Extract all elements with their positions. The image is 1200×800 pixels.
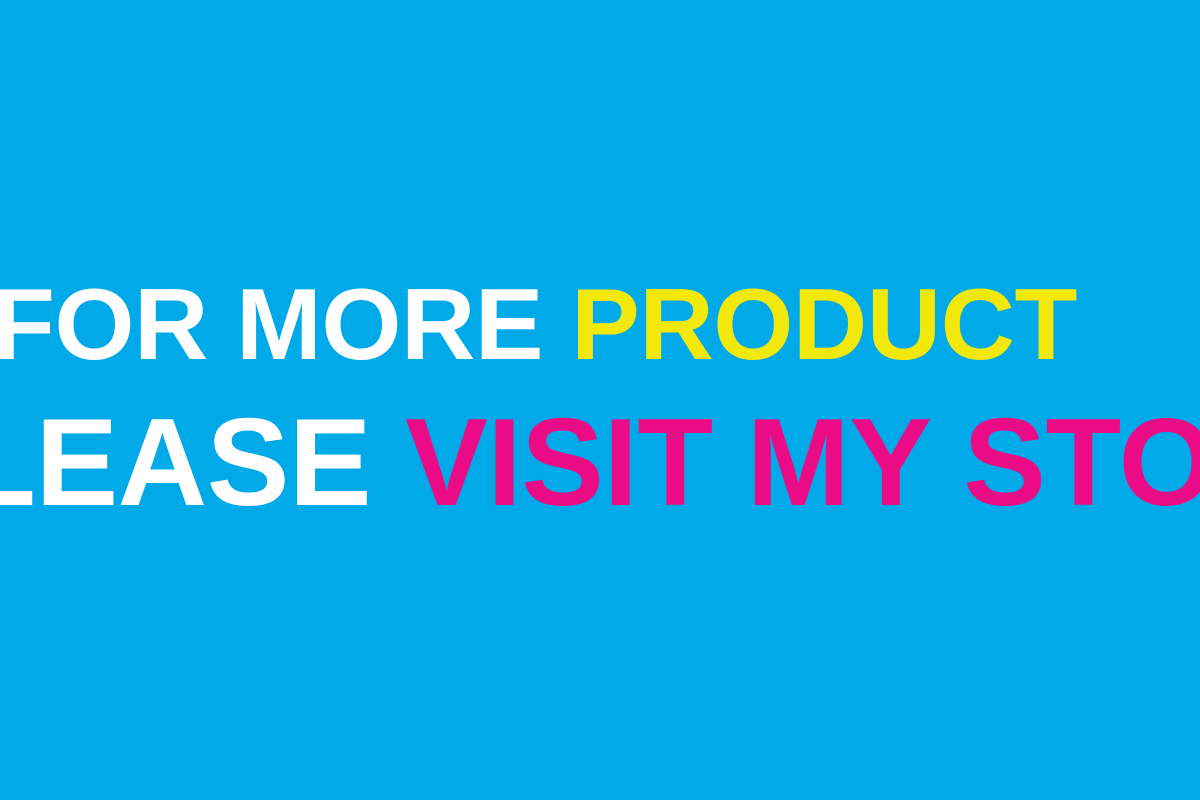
promo-banner: FOR MORE PRODUCT PLEASE VISIT MY STORE [0, 0, 1200, 800]
headline-segment-product: PRODUCT [571, 269, 1077, 381]
headline-space-2 [371, 394, 405, 532]
headline-line-2: PLEASE VISIT MY STORE [0, 401, 1200, 525]
headline-segment-visit-my-store: VISIT MY STORE [405, 394, 1200, 532]
headline-block: FOR MORE PRODUCT PLEASE VISIT MY STORE [0, 0, 1200, 800]
headline-line-1: FOR MORE PRODUCT [0, 275, 1077, 376]
headline-segment-for-more: FOR MORE [0, 269, 543, 381]
headline-space-1 [543, 269, 571, 381]
headline-segment-please: PLEASE [0, 394, 371, 532]
